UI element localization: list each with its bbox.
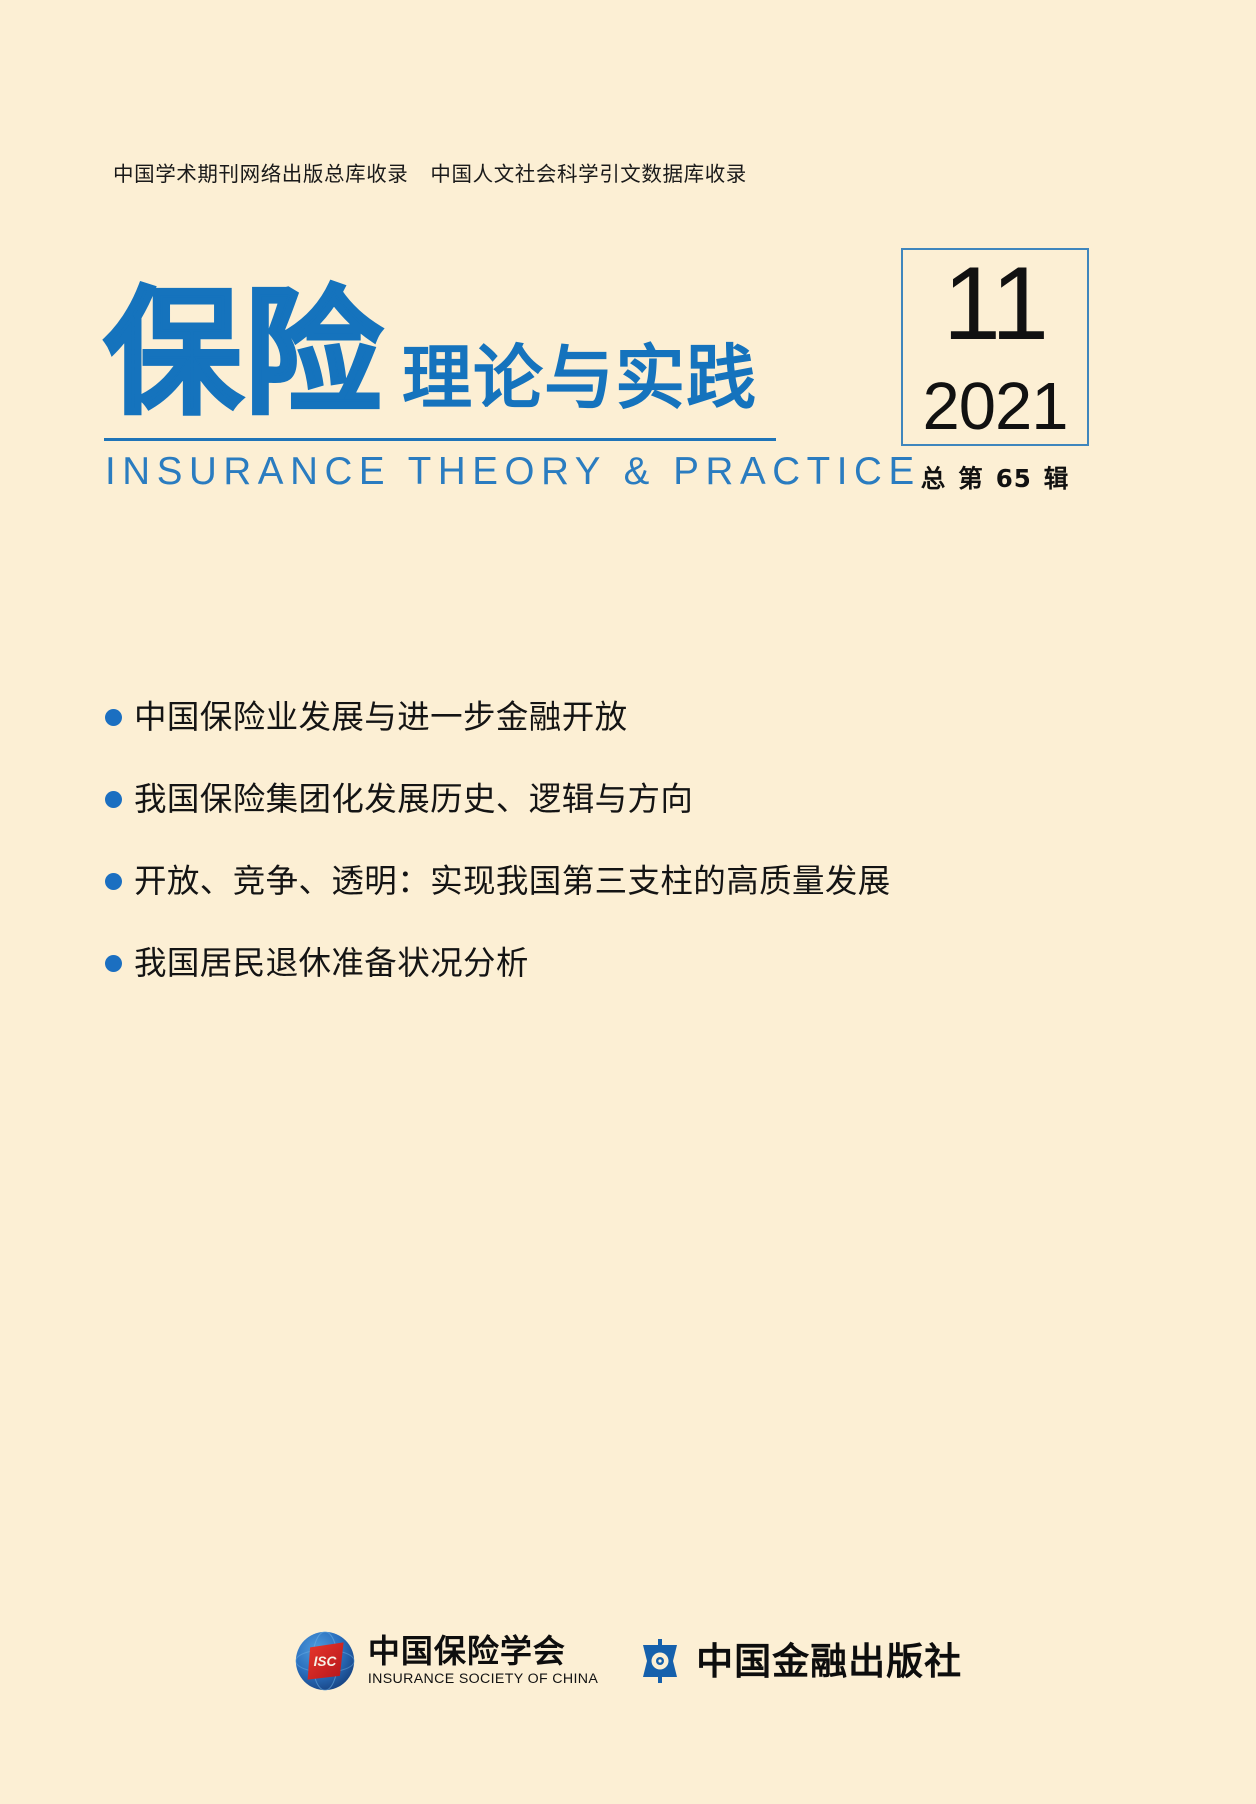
list-item: 我国居民退休准备状况分析 [105,946,1005,980]
issue-number: 11 [903,252,1087,356]
journal-cover: 中国学术期刊网络出版总库收录中国人文社会科学引文数据库收录 保险 理论与实践 I… [0,0,1256,1804]
article-title: 我国保险集团化发展历史、逻辑与方向 [134,783,693,816]
issue-block: 11 2021 总第65辑 [901,248,1091,495]
masthead-divider-rule [104,438,776,441]
masthead: 保险 理论与实践 INSURANCE THEORY & PRACTICE 11 … [104,243,1156,493]
index-right-label: 中国人文社会科学引文数据库收录 [430,163,747,186]
featured-articles-list: 中国保险业发展与进一步金融开放 我国保险集团化发展历史、逻辑与方向 开放、竞争、… [105,700,1005,1028]
cfph-emblem-icon [640,1638,680,1684]
title-zone: 保险 理论与实践 INSURANCE THEORY & PRACTICE [104,243,776,493]
journal-title-subtitle: 理论与实践 [402,343,757,423]
publisher-name-chinese: 中国金融出版社 [696,1643,962,1680]
journal-title-english: INSURANCE THEORY & PRACTICE [105,450,921,494]
index-inclusion-line: 中国学术期刊网络出版总库收录中国人文社会科学引文数据库收录 [113,157,747,187]
publisher-insurance-society-of-china: ISC 中国保险学会 INSURANCE SOCIETY OF CHINA [294,1630,598,1692]
index-left-label: 中国学术期刊网络出版总库收录 [113,163,408,186]
serial-suffix-label: 辑 [1044,464,1070,493]
list-item: 我国保险集团化发展历史、逻辑与方向 [105,782,1005,816]
isc-globe-icon: ISC [294,1630,356,1692]
article-title: 中国保险业发展与进一步金融开放 [134,701,628,734]
serial-number: 65 [996,464,1032,493]
serial-label: 第 [958,464,984,493]
issue-year: 2021 [903,373,1087,440]
publisher-china-financial-publishing-house: 中国金融出版社 [640,1638,962,1684]
journal-title-chinese: 保险 理论与实践 [104,243,757,423]
journal-title-main: 保险 [104,285,384,423]
issue-serial-line: 总第65辑 [901,460,1089,495]
publisher-name-chinese: 中国保险学会 [368,1635,598,1669]
serial-prefix-label: 总 [921,464,947,493]
publisher-name-english: INSURANCE SOCIETY OF CHINA [368,1671,598,1687]
bullet-dot-icon [105,791,122,808]
list-item: 开放、竞争、透明：实现我国第三支柱的高质量发展 [105,864,1005,898]
bullet-dot-icon [105,709,122,726]
list-item: 中国保险业发展与进一步金融开放 [105,700,1005,734]
publisher-logos: ISC 中国保险学会 INSURANCE SOCIETY OF CHINA 中国… [0,1630,1256,1692]
bullet-dot-icon [105,955,122,972]
article-title: 开放、竞争、透明：实现我国第三支柱的高质量发展 [134,865,891,898]
issue-box: 11 2021 [901,248,1089,446]
isc-monogram-text: ISC [313,1654,336,1669]
isc-name-group: 中国保险学会 INSURANCE SOCIETY OF CHINA [368,1635,598,1688]
article-title: 我国居民退休准备状况分析 [134,947,529,980]
bullet-dot-icon [105,873,122,890]
